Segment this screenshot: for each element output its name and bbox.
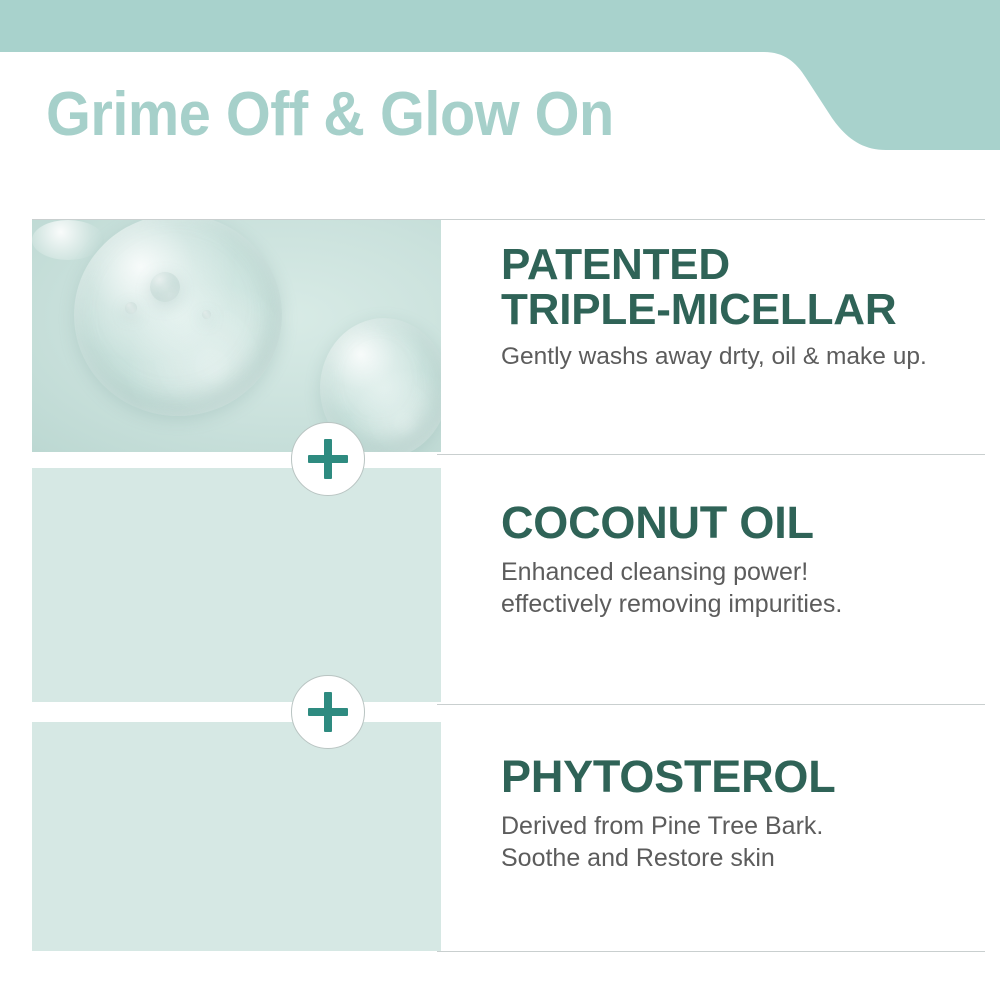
water-bubbles-image bbox=[32, 220, 441, 452]
plus-icon bbox=[308, 439, 348, 479]
ingredient-copy: COCONUT OIL Enhanced cleansing power! ef… bbox=[469, 468, 985, 702]
water-bubbles-photo bbox=[32, 220, 441, 452]
bubble-shape bbox=[150, 272, 180, 302]
pine-needle-field bbox=[32, 722, 441, 951]
plus-connector-1 bbox=[291, 422, 365, 496]
plus-icon bbox=[308, 692, 348, 732]
ingredient-description: Gently washs away drty, oil & make up. bbox=[501, 341, 985, 372]
ingredient-description: Enhanced cleansing power! effectively re… bbox=[501, 556, 985, 620]
bubble-shape bbox=[202, 310, 211, 319]
ingredient-copy: PHYTOSTEROL Derived from Pine Tree Bark.… bbox=[469, 722, 985, 951]
ingredient-row: PATENTED TRIPLE-MICELLAR Gently washs aw… bbox=[32, 220, 985, 452]
ingredient-heading: PHYTOSTEROL bbox=[501, 754, 985, 800]
ingredient-heading: PATENTED TRIPLE-MICELLAR bbox=[501, 242, 985, 333]
ingredient-list: PATENTED TRIPLE-MICELLAR Gently washs aw… bbox=[0, 0, 1000, 1000]
ingredient-heading: COCONUT OIL bbox=[501, 500, 985, 546]
ingredient-row: PHYTOSTEROL Derived from Pine Tree Bark.… bbox=[32, 722, 985, 951]
bubble-shape bbox=[74, 220, 282, 416]
infographic-page: Grime Off & Glow On bbox=[0, 0, 1000, 1000]
bubble-shape bbox=[125, 302, 137, 314]
ingredient-copy: PATENTED TRIPLE-MICELLAR Gently washs aw… bbox=[469, 220, 985, 452]
coconut-oil-photo bbox=[32, 468, 441, 702]
pine-needles-photo bbox=[32, 722, 441, 951]
bubble-shape bbox=[32, 220, 104, 260]
pine-needles-image bbox=[32, 722, 441, 951]
ingredient-description: Derived from Pine Tree Bark. Soothe and … bbox=[501, 810, 985, 874]
ingredient-row: COCONUT OIL Enhanced cleansing power! ef… bbox=[32, 468, 985, 702]
plus-connector-2 bbox=[291, 675, 365, 749]
